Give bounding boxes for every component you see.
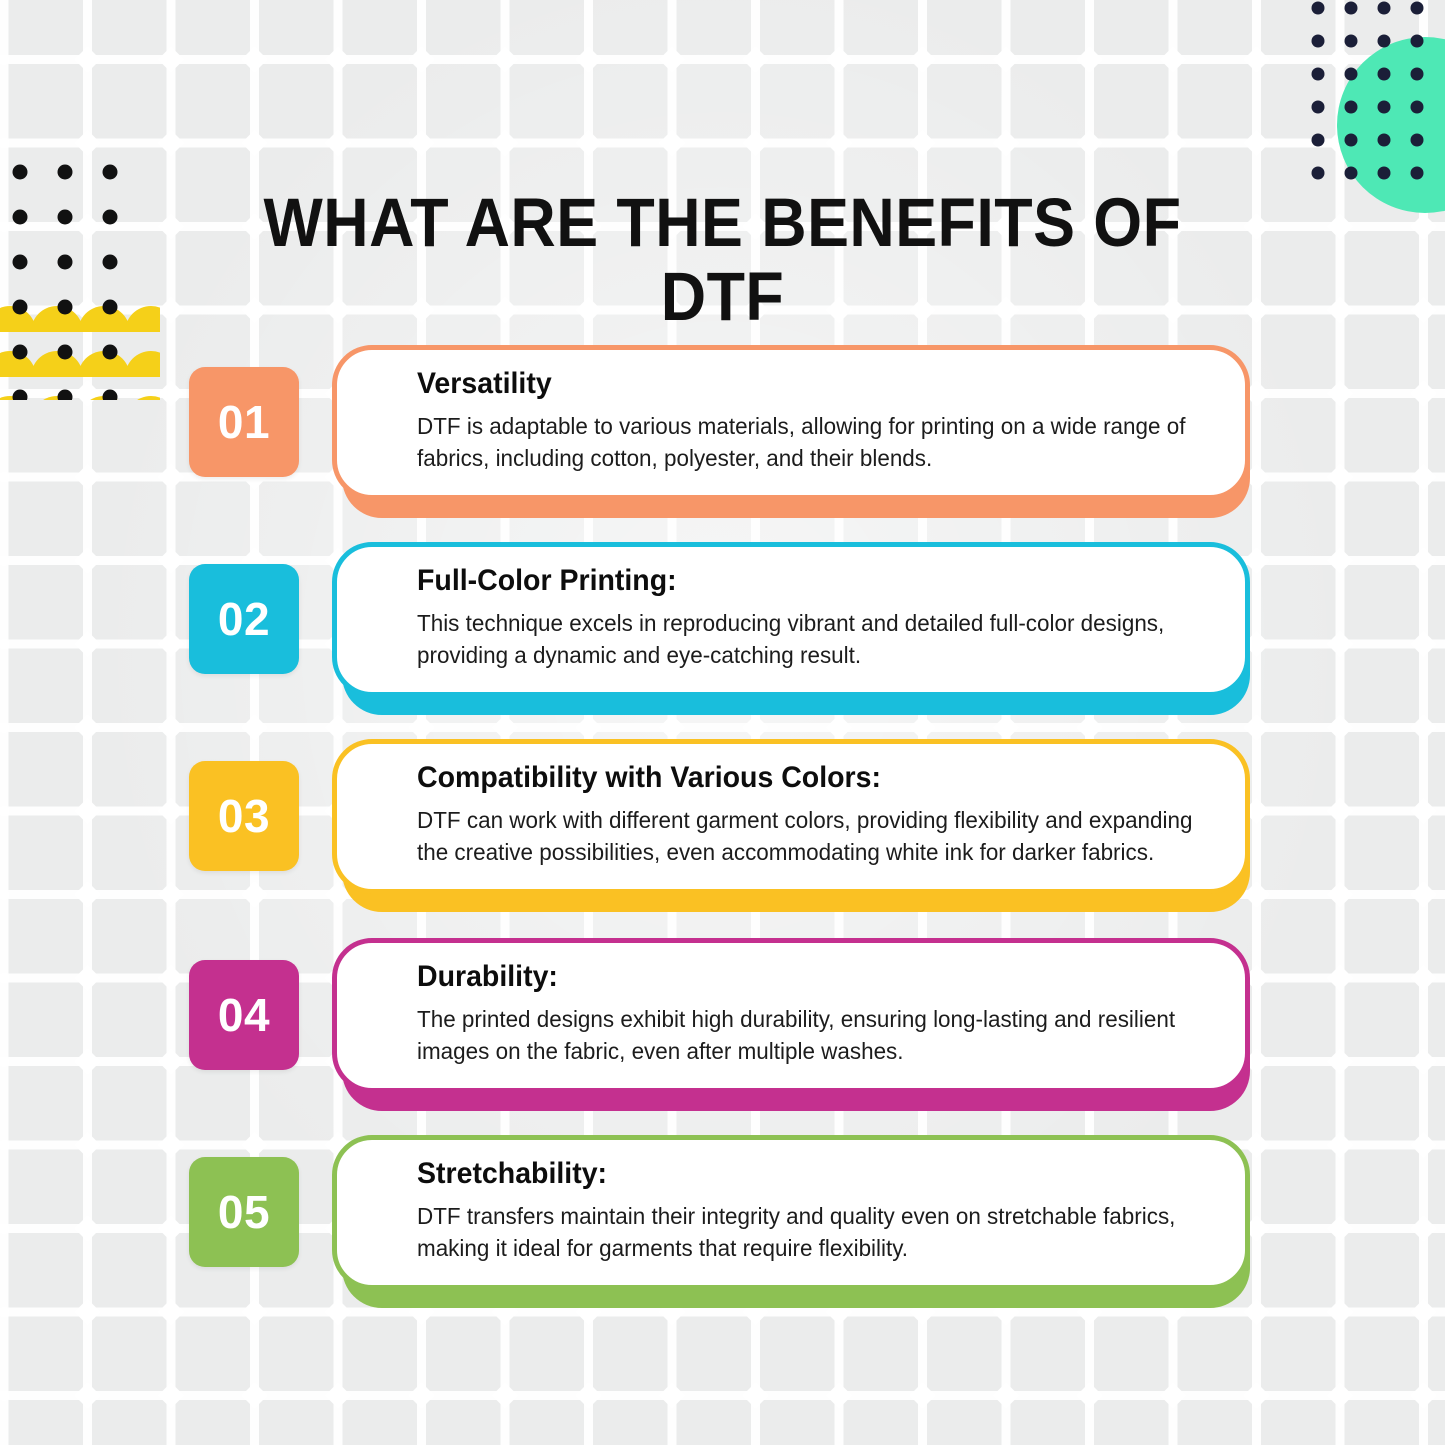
benefit-card-surface[interactable]: VersatilityDTF is adaptable to various m… [332, 345, 1250, 500]
benefit-number-badge[interactable]: 02 [189, 564, 299, 674]
benefit-heading: Versatility [417, 367, 1171, 401]
benefit-row: 05Stretchability:DTF transfers maintain … [0, 1135, 1445, 1311]
benefit-row: 03Compatibility with Various Colors:DTF … [0, 739, 1445, 915]
benefit-row: 01VersatilityDTF is adaptable to various… [0, 345, 1445, 521]
benefit-number-badge[interactable]: 04 [189, 960, 299, 1070]
infographic-canvas: WHAT ARE THE BENEFITS OF DTF TRANSFERS? … [0, 0, 1445, 1445]
benefit-card-surface[interactable]: Stretchability:DTF transfers maintain th… [332, 1135, 1250, 1290]
benefit-row: 02Full-Color Printing:This technique exc… [0, 542, 1445, 718]
benefit-heading: Durability: [417, 960, 1171, 994]
decoration-top-right [1270, 0, 1445, 230]
benefit-card[interactable]: VersatilityDTF is adaptable to various m… [332, 345, 1250, 521]
benefit-number-badge[interactable]: 03 [189, 761, 299, 871]
benefit-body: DTF transfers maintain their integrity a… [417, 1200, 1219, 1264]
benefit-row: 04Durability:The printed designs exhibit… [0, 938, 1445, 1114]
benefit-number-badge[interactable]: 05 [189, 1157, 299, 1267]
benefit-card[interactable]: Stretchability:DTF transfers maintain th… [332, 1135, 1250, 1311]
benefit-body: DTF can work with different garment colo… [417, 804, 1219, 868]
benefit-body: DTF is adaptable to various materials, a… [417, 410, 1219, 474]
benefit-body: The printed designs exhibit high durabil… [417, 1003, 1219, 1067]
benefit-heading: Full-Color Printing: [417, 564, 1171, 598]
benefit-card[interactable]: Compatibility with Various Colors:DTF ca… [332, 739, 1250, 915]
benefit-card-surface[interactable]: Full-Color Printing:This technique excel… [332, 542, 1250, 697]
benefit-heading: Stretchability: [417, 1157, 1171, 1191]
benefit-heading: Compatibility with Various Colors: [417, 761, 1171, 795]
benefit-body: This technique excels in reproducing vib… [417, 607, 1219, 671]
benefit-card-surface[interactable]: Compatibility with Various Colors:DTF ca… [332, 739, 1250, 894]
benefit-card[interactable]: Full-Color Printing:This technique excel… [332, 542, 1250, 718]
benefit-number-badge[interactable]: 01 [189, 367, 299, 477]
benefit-card[interactable]: Durability:The printed designs exhibit h… [332, 938, 1250, 1114]
benefit-card-surface[interactable]: Durability:The printed designs exhibit h… [332, 938, 1250, 1093]
